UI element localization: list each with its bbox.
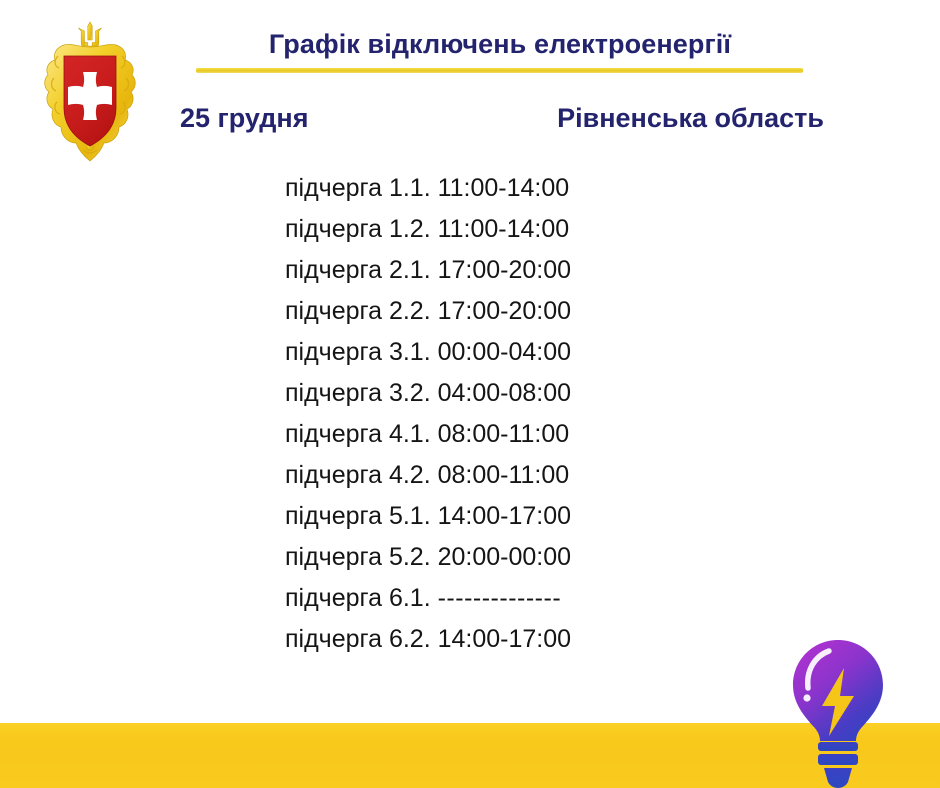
queue-label: підчерга [285, 174, 389, 202]
queue-time: 04:00-08:00 [438, 379, 571, 407]
queue-label: підчерга [285, 215, 389, 243]
queue-id: 3.1. [389, 338, 438, 366]
queue-id: 2.1. [389, 256, 438, 284]
schedule-row: підчерга 4.1. 08:00-11:00 [285, 414, 705, 455]
queue-label: підчерга [285, 625, 389, 653]
queue-label: підчерга [285, 256, 389, 284]
queue-label: підчерга [285, 543, 389, 571]
queue-id: 6.2. [389, 625, 438, 653]
queue-time: 14:00-17:00 [438, 625, 571, 653]
lightbulb-bolt-icon [782, 636, 894, 788]
outage-schedule-poster: Графік відключень електроенергії 25 груд… [0, 0, 940, 788]
queue-time: 08:00-11:00 [438, 420, 570, 448]
queue-id: 4.2. [389, 461, 438, 489]
schedule-row: підчерга 5.2. 20:00-00:00 [285, 537, 705, 578]
schedule-row: підчерга 2.2. 17:00-20:00 [285, 291, 705, 332]
queue-label: підчерга [285, 502, 389, 530]
schedule-row: підчерга 1.1. 11:00-14:00 [285, 168, 705, 209]
schedule-row: підчерга 6.2. 14:00-17:00 [285, 619, 705, 660]
queue-id: 3.2. [389, 379, 438, 407]
queue-label: підчерга [285, 338, 389, 366]
queue-label: підчерга [285, 461, 389, 489]
schedule-row: підчерга 5.1. 14:00-17:00 [285, 496, 705, 537]
queue-label: підчерга [285, 420, 389, 448]
subtitle-row: 25 грудня Рівненська область [180, 103, 824, 139]
queue-time: 17:00-20:00 [438, 297, 571, 325]
queue-time: -------------- [438, 584, 562, 612]
schedule-date: 25 грудня [180, 103, 308, 134]
queue-id: 2.2. [389, 297, 438, 325]
queue-id: 5.1. [389, 502, 438, 530]
region-name: Рівненська область [557, 103, 824, 134]
queue-id: 6.1. [389, 584, 438, 612]
queue-id: 5.2. [389, 543, 438, 571]
schedule-list: підчерга 1.1. 11:00-14:00 підчерга 1.2. … [285, 168, 705, 660]
schedule-row: підчерга 1.2. 11:00-14:00 [285, 209, 705, 250]
queue-label: підчерга [285, 584, 389, 612]
queue-label: підчерга [285, 379, 389, 407]
queue-id: 1.2. [389, 215, 438, 243]
queue-time: 11:00-14:00 [438, 215, 570, 243]
schedule-row: підчерга 4.2. 08:00-11:00 [285, 455, 705, 496]
title-underline-rule [196, 68, 803, 73]
queue-time: 08:00-11:00 [438, 461, 570, 489]
queue-id: 4.1. [389, 420, 438, 448]
schedule-row: підчерга 3.2. 04:00-08:00 [285, 373, 705, 414]
schedule-row: підчерга 2.1. 17:00-20:00 [285, 250, 705, 291]
queue-time: 11:00-14:00 [438, 174, 570, 202]
schedule-row: підчерга 3.1. 00:00-04:00 [285, 332, 705, 373]
rivne-oblast-emblem [33, 16, 147, 164]
queue-label: підчерга [285, 297, 389, 325]
queue-time: 14:00-17:00 [438, 502, 571, 530]
queue-time: 17:00-20:00 [438, 256, 571, 284]
schedule-row: підчерга 6.1. -------------- [285, 578, 705, 619]
page-title: Графік відключень електроенергії [196, 29, 804, 60]
queue-time: 20:00-00:00 [438, 543, 571, 571]
queue-time: 00:00-04:00 [438, 338, 571, 366]
queue-id: 1.1. [389, 174, 438, 202]
